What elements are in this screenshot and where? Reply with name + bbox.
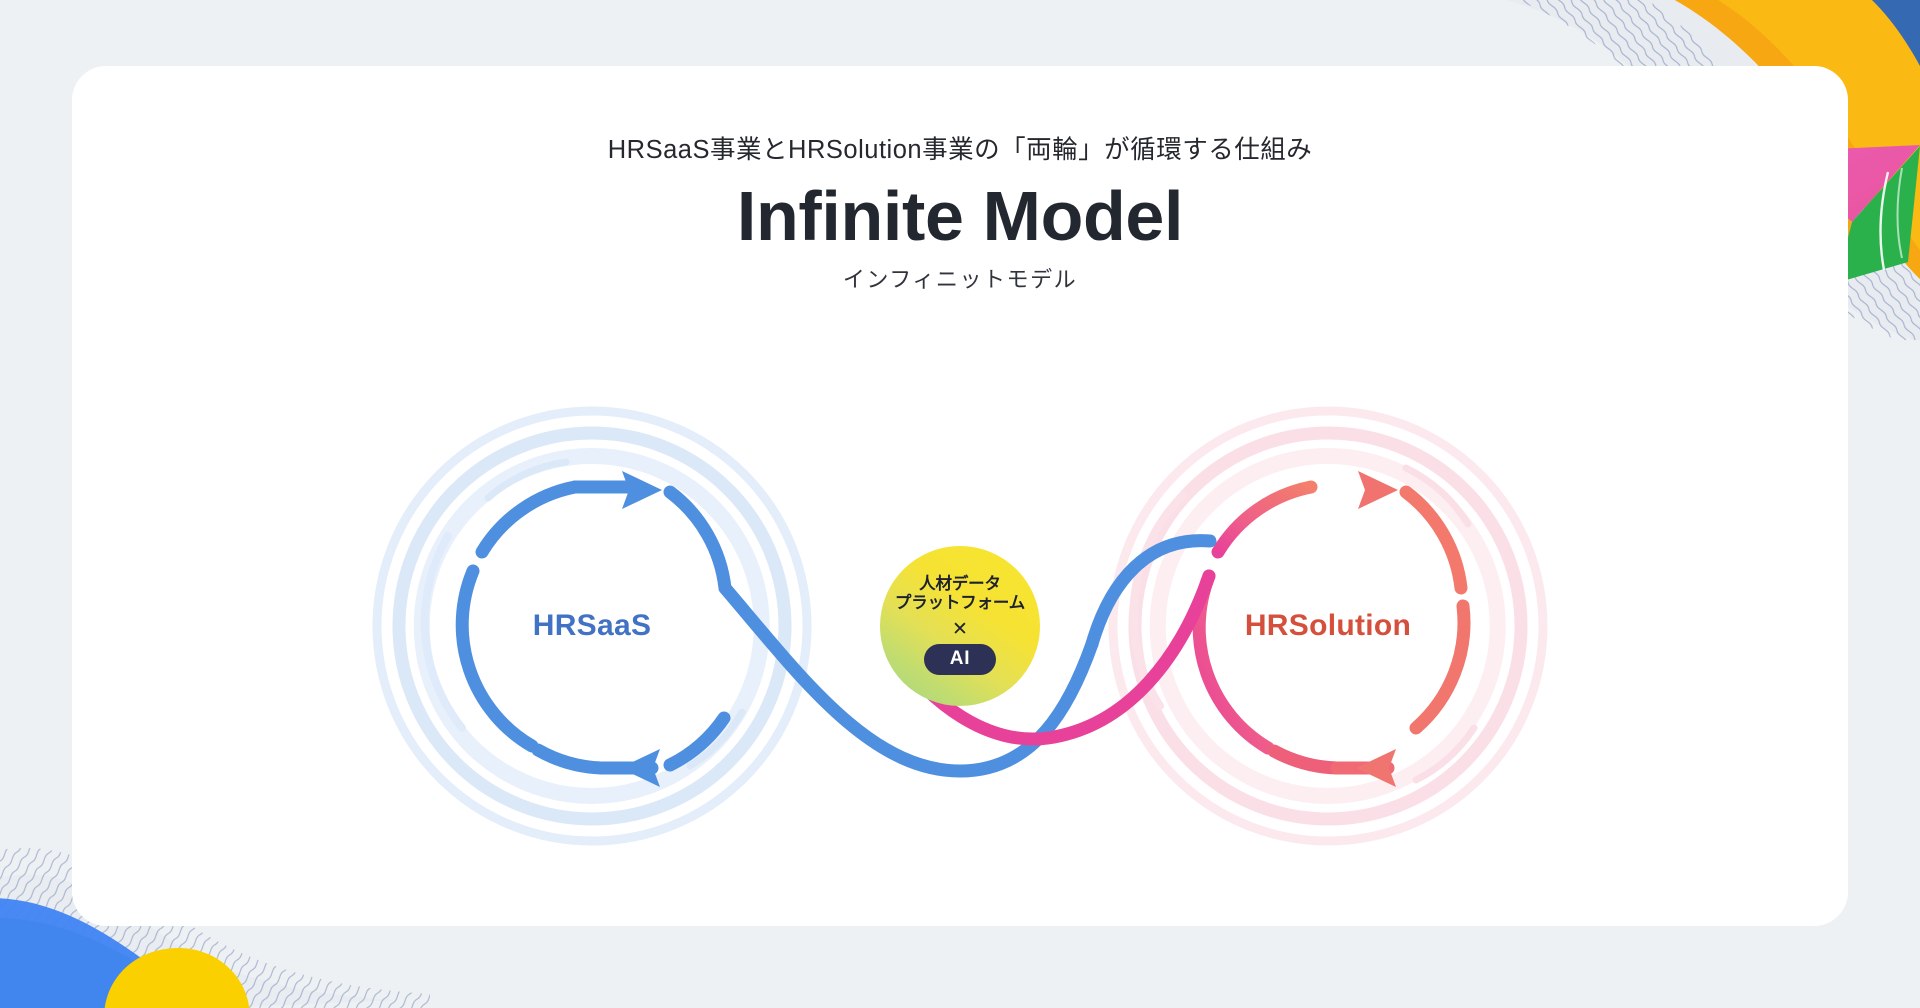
page-root: HRSaaS事業とHRSolution事業の「両輪」が循環する仕組み Infin…	[0, 0, 1920, 1008]
infinity-diagram: HRSaaS HRSolution 人材データ プラットフォーム ✕ AI	[370, 376, 1550, 876]
page-subtitle: インフィニットモデル	[72, 267, 1848, 293]
hub-line-2: プラットフォーム	[895, 594, 1025, 613]
content-card: HRSaaS事業とHRSolution事業の「両輪」が循環する仕組み Infin…	[72, 66, 1848, 926]
header-block: HRSaaS事業とHRSolution事業の「両輪」が循環する仕組み Infin…	[72, 66, 1848, 293]
cross-icon: ✕	[952, 620, 968, 639]
right-loop-label: HRSolution	[1245, 609, 1411, 643]
left-loop-label: HRSaaS	[533, 609, 652, 643]
page-title: Infinite Model	[72, 179, 1848, 255]
hub-line-1: 人材データ	[919, 575, 1001, 594]
eyebrow-text: HRSaaS事業とHRSolution事業の「両輪」が循環する仕組み	[72, 134, 1848, 167]
ai-badge: AI	[924, 644, 997, 676]
center-hub: 人材データ プラットフォーム ✕ AI	[880, 546, 1040, 706]
